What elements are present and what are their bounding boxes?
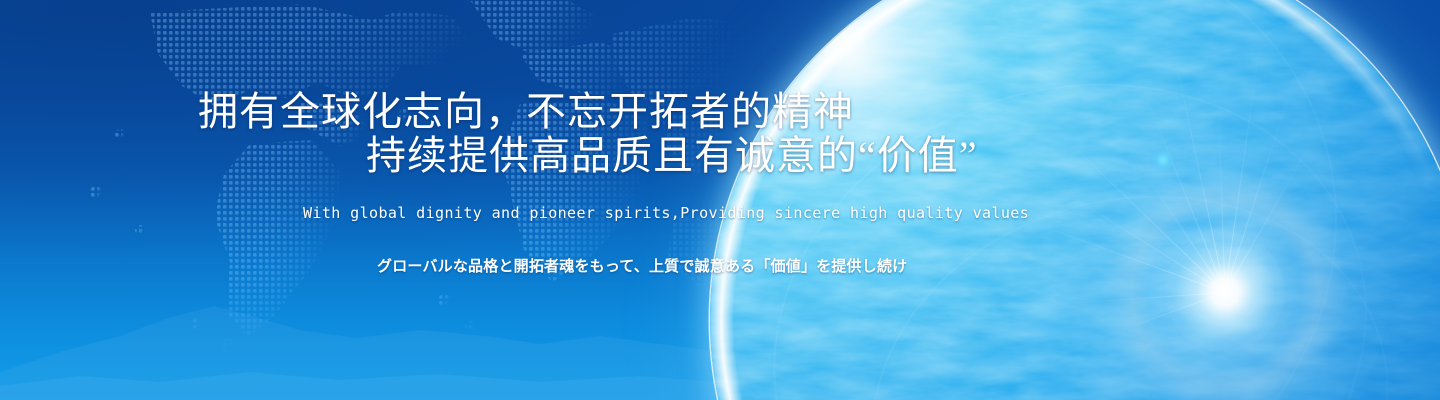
subtitle-english: With global dignity and pioneer spirits,…	[303, 206, 1029, 221]
hero-banner: 拥有全球化志向，不忘开拓者的精神 持续提供高品质且有诚意的“价值” With g…	[0, 0, 1440, 400]
headline-line-1: 拥有全球化志向，不忘开拓者的精神	[198, 92, 854, 132]
subtitle-japanese: グローバルな品格と開拓者魂をもって、上質で誠意ある「価値」を提供し続け	[377, 259, 907, 274]
banner-copy: 拥有全球化志向，不忘开拓者的精神 持续提供高品质且有诚意的“价值” With g…	[0, 0, 1440, 400]
headline-line-2: 持续提供高品质且有诚意的“价值”	[366, 136, 978, 176]
